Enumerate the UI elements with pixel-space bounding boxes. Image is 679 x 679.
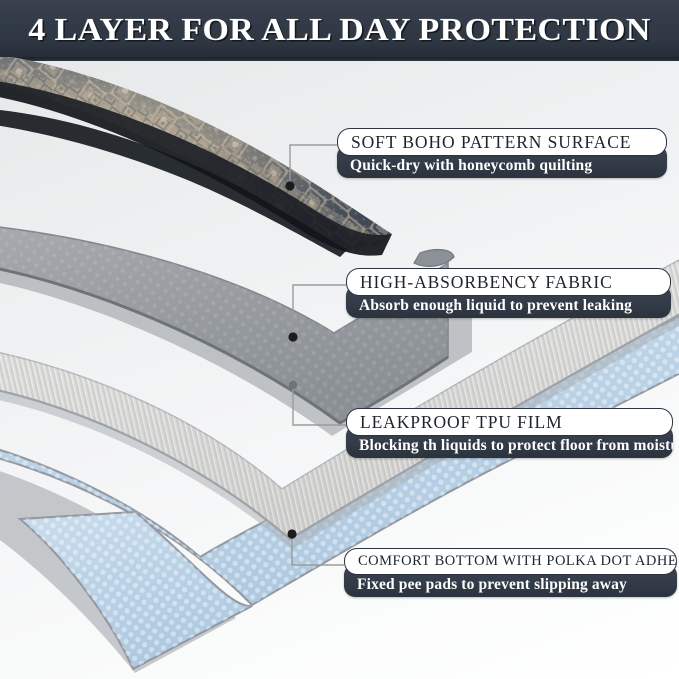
- callout-leakproof-tpu-film: LEAKPROOF TPU FILM Blocking th liquids t…: [346, 408, 673, 458]
- layer-shape-soft-boho-surface: [0, 57, 392, 257]
- callout-4-title: COMFORT BOTTOM WITH POLKA DOT ADHESIVE: [344, 548, 677, 575]
- header-banner: 4 LAYER FOR ALL DAY PROTECTION: [0, 0, 679, 57]
- page-title: 4 LAYER FOR ALL DAY PROTECTION: [28, 13, 650, 45]
- leader-dot-2: [288, 332, 297, 341]
- callout-2-title: HIGH-ABSORBENCY FABRIC: [346, 268, 671, 296]
- callout-high-absorbency-fabric: HIGH-ABSORBENCY FABRIC Absorb enough liq…: [346, 268, 671, 318]
- callout-3-title: LEAKPROOF TPU FILM: [346, 408, 673, 436]
- leader-dot-3: [289, 381, 297, 389]
- leader-dot-4: [287, 529, 296, 538]
- callout-1-title: SOFT BOHO PATTERN SURFACE: [337, 128, 667, 156]
- leader-dot-1: [285, 181, 294, 190]
- callout-soft-boho-pattern-surface: SOFT BOHO PATTERN SURFACE Quick-dry with…: [337, 128, 667, 178]
- layer-protection-infographic: 4 LAYER FOR ALL DAY PROTECTION: [0, 0, 679, 679]
- callout-comfort-bottom-polka-dot-adhesive: COMFORT BOTTOM WITH POLKA DOT ADHESIVE F…: [344, 548, 677, 597]
